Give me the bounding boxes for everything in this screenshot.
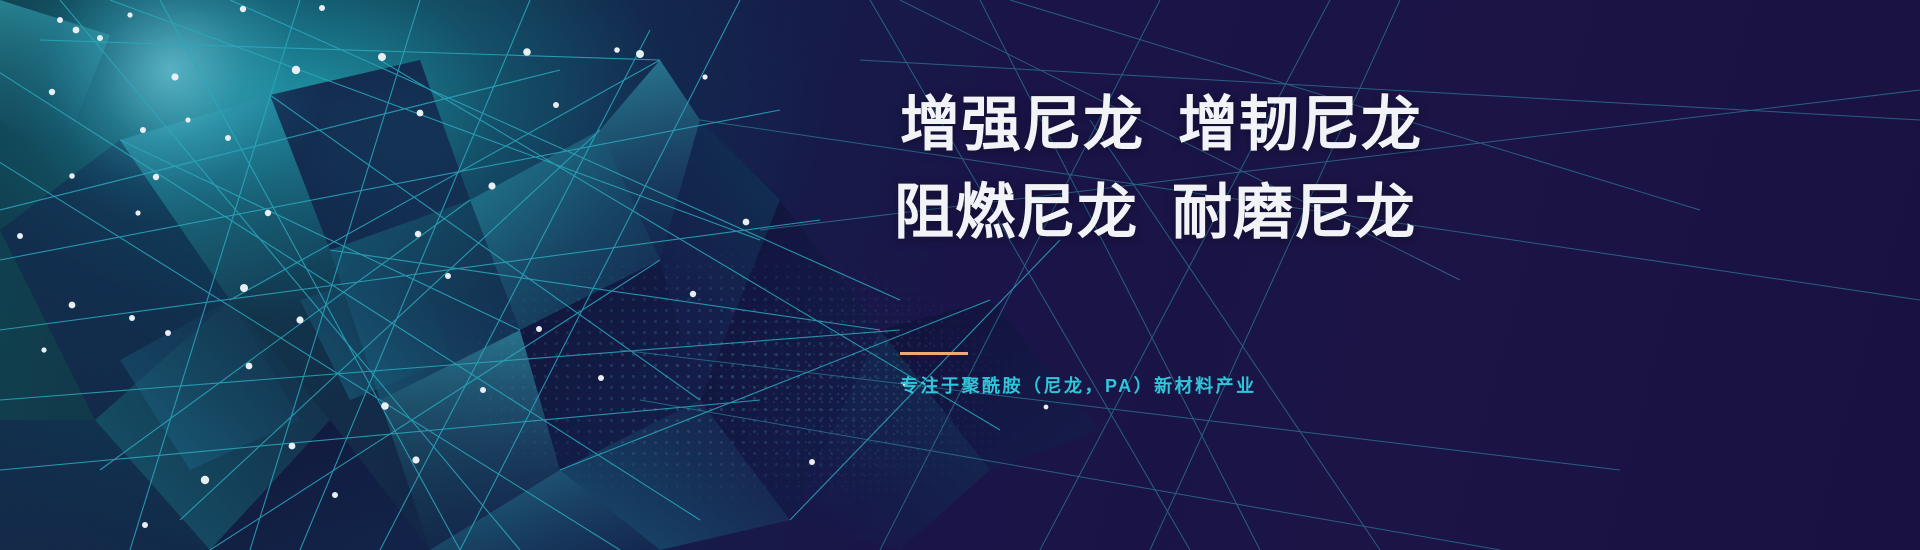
hero-banner: 增强尼龙增韧尼龙 阻燃尼龙耐磨尼龙 专注于聚酰胺（尼龙，PA）新材料产业: [0, 0, 1920, 550]
banner-text-block: 增强尼龙增韧尼龙 阻燃尼龙耐磨尼龙 专注于聚酰胺（尼龙，PA）新材料产业: [900, 0, 1600, 550]
headline-line2-part2: 耐磨尼龙: [1172, 179, 1416, 246]
banner-subtitle: 专注于聚酰胺（尼龙，PA）新材料产业: [900, 372, 1257, 398]
headline-line1-part1: 增强尼龙: [900, 91, 1144, 158]
orange-divider-rule: [900, 352, 968, 355]
headline-line2-part1: 阻燃尼龙: [894, 179, 1138, 246]
headline-line-1: 增强尼龙增韧尼龙: [900, 95, 1422, 155]
headline-line-2: 阻燃尼龙耐磨尼龙: [894, 183, 1416, 243]
headline-line1-part2: 增韧尼龙: [1178, 91, 1422, 158]
